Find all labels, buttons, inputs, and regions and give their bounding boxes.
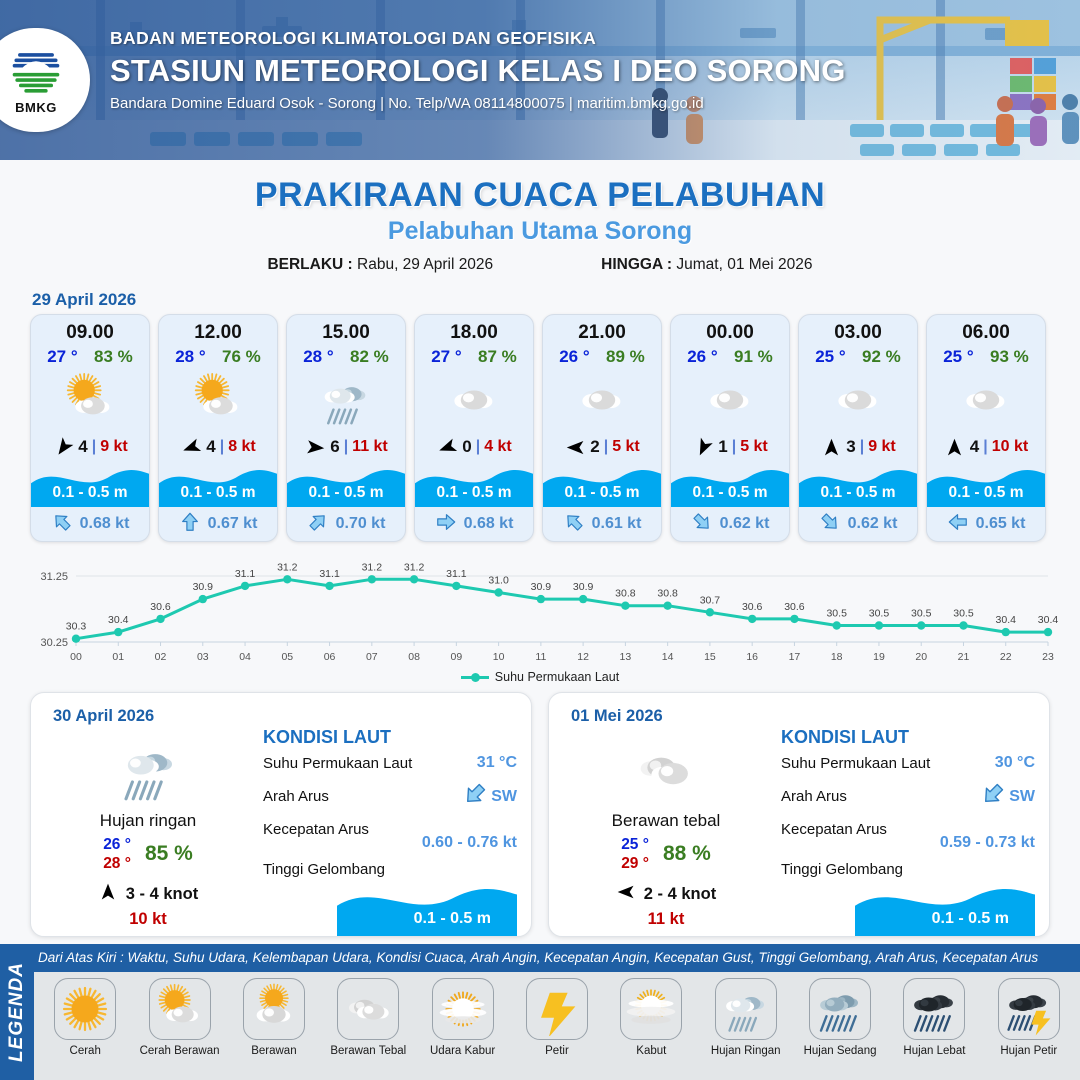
daily-temp-min: 26 ° xyxy=(103,835,131,854)
current-direction-row: Arah Arus SW xyxy=(263,781,517,812)
legend-side-label: LEGENDA xyxy=(0,944,34,1080)
svg-text:20: 20 xyxy=(915,651,927,663)
current-direction-value: SW xyxy=(491,788,517,806)
weather-berawan-tebal-icon xyxy=(561,733,771,807)
current-direction-arrow-icon xyxy=(179,511,201,538)
svg-text:05: 05 xyxy=(281,651,293,663)
current-speed: 0.65 kt xyxy=(976,515,1026,533)
card-temp-hum-row: 28 ° 76 % xyxy=(159,344,277,367)
current-direction-value-group: SW xyxy=(462,781,517,812)
weather-hujan-ringan-icon xyxy=(715,978,777,1040)
wind-separator: | xyxy=(220,438,224,456)
current-direction-arrow-icon xyxy=(51,511,73,538)
hourly-card[interactable]: 06.00 25 ° 93 % 4 | 10 kt 0.1 - 0.5 m 0.… xyxy=(926,314,1046,542)
legend-item: Berawan xyxy=(227,978,321,1057)
svg-text:08: 08 xyxy=(408,651,420,663)
wave-height-label: Tinggi Gelombang xyxy=(781,861,903,878)
wind-separator: | xyxy=(344,438,348,456)
legend-side-text: LEGENDA xyxy=(6,962,28,1062)
legend-item-label: Berawan xyxy=(227,1045,321,1057)
wind-direction-arrow-icon xyxy=(616,882,636,907)
svg-text:30.4: 30.4 xyxy=(996,614,1017,626)
wind-separator: | xyxy=(604,438,608,456)
card-wave-band: 0.1 - 0.5 m xyxy=(671,463,789,507)
hourly-card[interactable]: 12.00 28 ° 76 % 4 | 8 kt 0.1 - 0.5 m 0.6… xyxy=(158,314,278,542)
daily-sea-block: KONDISI LAUT Suhu Permukaan Laut 31 °C A… xyxy=(263,727,517,936)
card-wave-band: 0.1 - 0.5 m xyxy=(31,463,149,507)
wind-separator: | xyxy=(92,438,96,456)
wind-direction-arrow-icon xyxy=(564,436,586,458)
card-temperature: 26 ° xyxy=(559,347,589,367)
wind-direction-arrow-icon xyxy=(820,436,842,458)
svg-text:30.5: 30.5 xyxy=(911,608,932,620)
hourly-card[interactable]: 09.00 27 ° 83 % 4 | 9 kt 0.1 - 0.5 m 0.6… xyxy=(30,314,150,542)
station-contact: Bandara Domine Eduard Osok - Sorong | No… xyxy=(110,95,846,112)
svg-text:31.1: 31.1 xyxy=(446,568,467,580)
wind-direction-arrow-icon xyxy=(98,882,118,907)
card-time: 21.00 xyxy=(543,315,661,344)
wind-gust: 5 kt xyxy=(612,438,640,456)
weather-kabut-icon xyxy=(620,978,682,1040)
card-temp-hum-row: 26 ° 89 % xyxy=(543,344,661,367)
legend-item-label: Petir xyxy=(510,1045,604,1057)
wind-gust: 9 kt xyxy=(100,438,128,456)
legend-item-label: Kabut xyxy=(604,1045,698,1057)
svg-text:19: 19 xyxy=(873,651,885,663)
legend-item-label: Berawan Tebal xyxy=(321,1045,415,1057)
legend-item-label: Cerah xyxy=(38,1045,132,1057)
svg-text:31.25: 31.25 xyxy=(40,571,68,583)
hingga-label: HINGGA : xyxy=(601,256,672,273)
sst-row: Suhu Permukaan Laut 30 °C xyxy=(781,754,1035,772)
legend-section: LEGENDA Dari Atas Kiri : Waktu, Suhu Uda… xyxy=(0,944,1080,1080)
weather-berawan-icon xyxy=(415,369,533,431)
legend-items-row: Cerah Cerah Berawan Berawan Berawan Teba… xyxy=(34,972,1080,1080)
wind-direction-arrow-icon xyxy=(180,436,202,458)
card-temperature: 26 ° xyxy=(687,347,717,367)
card-wave-band: 0.1 - 0.5 m xyxy=(287,463,405,507)
wave-height: 0.1 - 0.5 m xyxy=(415,484,533,502)
card-time: 15.00 xyxy=(287,315,405,344)
legend-item: Cerah xyxy=(38,978,132,1057)
current-speed: 0.68 kt xyxy=(464,515,514,533)
svg-text:30.6: 30.6 xyxy=(150,601,171,613)
svg-text:21: 21 xyxy=(958,651,970,663)
card-current-row: 0.67 kt xyxy=(159,507,277,541)
sea-condition-title: KONDISI LAUT xyxy=(781,727,1035,748)
weather-cerah-berawan-icon xyxy=(31,369,149,431)
daily-temp-range: 26 ° 28 ° xyxy=(103,835,131,874)
card-temp-hum-row: 27 ° 87 % xyxy=(415,344,533,367)
card-temp-hum-row: 27 ° 83 % xyxy=(31,344,149,367)
card-current-row: 0.70 kt xyxy=(287,507,405,541)
page-title: PRAKIRAAN CUACA PELABUHAN xyxy=(0,176,1080,215)
svg-text:30.5: 30.5 xyxy=(953,608,974,620)
current-direction-arrow-icon xyxy=(947,511,969,538)
weather-berawan-icon xyxy=(799,369,917,431)
daily-wave-value: 0.1 - 0.5 m xyxy=(932,910,1009,928)
card-wind-row: 6 | 11 kt xyxy=(287,431,405,463)
daily-condition: Berawan tebal xyxy=(561,811,771,831)
sst-chart: 31.2530.25000102030405060708091011121314… xyxy=(18,556,1062,668)
svg-text:30.9: 30.9 xyxy=(531,581,552,593)
card-wave-band: 0.1 - 0.5 m xyxy=(799,463,917,507)
daily-humidity: 85 % xyxy=(145,842,193,866)
daily-date: 01 Mei 2026 xyxy=(571,707,663,726)
current-speed-label: Kecepatan Arus xyxy=(263,821,369,838)
svg-text:31.1: 31.1 xyxy=(319,568,340,580)
card-time: 00.00 xyxy=(671,315,789,344)
svg-text:09: 09 xyxy=(451,651,463,663)
card-wave-band: 0.1 - 0.5 m xyxy=(159,463,277,507)
current-direction-label: Arah Arus xyxy=(263,788,329,805)
svg-text:01: 01 xyxy=(112,651,124,663)
daily-gust: 11 kt xyxy=(561,910,771,929)
wind-speed: 4 xyxy=(206,437,215,457)
current-direction-label: Arah Arus xyxy=(781,788,847,805)
current-direction-value-group: SW xyxy=(980,781,1035,812)
wind-direction-arrow-icon xyxy=(304,436,326,458)
svg-text:30.6: 30.6 xyxy=(784,601,805,613)
current-speed-label: Kecepatan Arus xyxy=(781,821,887,838)
weather-petir-icon xyxy=(526,978,588,1040)
card-temp-hum-row: 25 ° 92 % xyxy=(799,344,917,367)
card-wind-row: 3 | 9 kt xyxy=(799,431,917,463)
wind-separator: | xyxy=(983,438,987,456)
page-subtitle: Pelabuhan Utama Sorong xyxy=(0,217,1080,246)
sea-condition-title: KONDISI LAUT xyxy=(263,727,517,748)
legend-item-label: Cerah Berawan xyxy=(132,1045,226,1057)
sst-label: Suhu Permukaan Laut xyxy=(781,755,930,772)
card-current-row: 0.68 kt xyxy=(31,507,149,541)
legend-item: Cerah Berawan xyxy=(132,978,226,1057)
svg-text:31.2: 31.2 xyxy=(362,561,383,573)
svg-text:15: 15 xyxy=(704,651,716,663)
bmkg-logo-text: BMKG xyxy=(15,100,57,115)
card-humidity: 91 % xyxy=(734,347,773,367)
card-time: 18.00 xyxy=(415,315,533,344)
daily-sea-block: KONDISI LAUT Suhu Permukaan Laut 30 °C A… xyxy=(781,727,1035,936)
weather-berawan-tebal-icon xyxy=(337,978,399,1040)
current-direction-row: Arah Arus SW xyxy=(781,781,1035,812)
daily-wind-speed: 3 - 4 knot xyxy=(126,885,198,904)
wind-separator: | xyxy=(732,438,736,456)
hingga-group: HINGGA : Jumat, 01 Mei 2026 xyxy=(601,256,812,274)
wind-gust: 11 kt xyxy=(352,438,388,456)
svg-text:30.8: 30.8 xyxy=(615,588,636,600)
hourly-date-label: 29 April 2026 xyxy=(32,290,1080,310)
card-humidity: 82 % xyxy=(350,347,389,367)
card-humidity: 93 % xyxy=(990,347,1029,367)
legend-item: Udara Kabur xyxy=(415,978,509,1057)
current-direction-arrow-icon xyxy=(980,781,1006,812)
legend-item: Hujan Sedang xyxy=(793,978,887,1057)
weather-hujan-sedang-icon xyxy=(809,978,871,1040)
svg-text:30.4: 30.4 xyxy=(108,614,129,626)
weather-cerah-berawan-icon xyxy=(149,978,211,1040)
card-humidity: 83 % xyxy=(94,347,133,367)
svg-text:30.8: 30.8 xyxy=(657,588,678,600)
wind-direction-arrow-icon xyxy=(52,436,74,458)
svg-text:31.2: 31.2 xyxy=(277,561,298,573)
chart-legend: Suhu Permukaan Laut xyxy=(0,670,1080,684)
current-direction-arrow-icon xyxy=(462,781,488,812)
card-temp-hum-row: 28 ° 82 % xyxy=(287,344,405,367)
wind-direction-arrow-icon xyxy=(944,436,966,458)
svg-text:30.3: 30.3 xyxy=(66,621,87,633)
svg-text:30.6: 30.6 xyxy=(742,601,763,613)
card-current-row: 0.65 kt xyxy=(927,507,1045,541)
wind-direction-arrow-icon xyxy=(692,436,714,458)
card-temperature: 27 ° xyxy=(431,347,461,367)
card-humidity: 87 % xyxy=(478,347,517,367)
weather-udara-kabur-icon xyxy=(432,978,494,1040)
svg-text:30.5: 30.5 xyxy=(869,608,890,620)
legend-item-label: Hujan Ringan xyxy=(699,1045,793,1057)
wind-gust: 4 kt xyxy=(484,438,512,456)
current-direction-value: SW xyxy=(1009,788,1035,806)
daily-wind-row: 3 - 4 knot xyxy=(43,882,253,907)
current-speed: 0.70 kt xyxy=(336,515,386,533)
current-direction-arrow-icon xyxy=(435,511,457,538)
card-humidity: 92 % xyxy=(862,347,901,367)
daily-temp-max: 28 ° xyxy=(103,854,131,873)
wave-height-label: Tinggi Gelombang xyxy=(263,861,385,878)
daily-forecast-card[interactable]: 30 April 2026 Hujan ringan 26 ° 28 ° 85 … xyxy=(30,692,532,937)
svg-text:30.9: 30.9 xyxy=(573,581,594,593)
daily-left-block: Hujan ringan 26 ° 28 ° 85 % 3 - 4 knot 1… xyxy=(43,733,253,929)
current-direction-arrow-icon xyxy=(307,511,329,538)
card-wind-row: 1 | 5 kt xyxy=(671,431,789,463)
legend-item-label: Udara Kabur xyxy=(415,1045,509,1057)
card-temperature: 27 ° xyxy=(47,347,77,367)
daily-temp-range: 25 ° 29 ° xyxy=(621,835,649,874)
daily-wind-speed: 2 - 4 knot xyxy=(644,885,716,904)
hourly-card[interactable]: 15.00 28 ° 82 % 6 | 11 kt 0.1 - 0.5 m 0.… xyxy=(286,314,406,542)
sst-row: Suhu Permukaan Laut 31 °C xyxy=(263,754,517,772)
current-direction-arrow-icon xyxy=(819,511,841,538)
title-block: PRAKIRAAN CUACA PELABUHAN Pelabuhan Utam… xyxy=(0,176,1080,274)
berlaku-label: BERLAKU : xyxy=(267,256,352,273)
daily-condition: Hujan ringan xyxy=(43,811,253,831)
wind-gust: 8 kt xyxy=(228,438,256,456)
daily-temp-hum-row: 26 ° 28 ° 85 % xyxy=(43,835,253,874)
wind-gust: 9 kt xyxy=(868,438,896,456)
legend-caption: Dari Atas Kiri : Waktu, Suhu Udara, Kele… xyxy=(38,950,1074,965)
hourly-card[interactable]: 00.00 26 ° 91 % 1 | 5 kt 0.1 - 0.5 m 0.6… xyxy=(670,314,790,542)
svg-text:14: 14 xyxy=(662,651,674,663)
svg-text:00: 00 xyxy=(70,651,82,663)
svg-text:30.25: 30.25 xyxy=(40,637,68,649)
weather-hujan-lebat-icon xyxy=(903,978,965,1040)
svg-text:16: 16 xyxy=(746,651,758,663)
svg-text:07: 07 xyxy=(366,651,378,663)
hourly-card[interactable]: 21.00 26 ° 89 % 2 | 5 kt 0.1 - 0.5 m 0.6… xyxy=(542,314,662,542)
current-direction-arrow-icon xyxy=(563,511,585,538)
card-time: 03.00 xyxy=(799,315,917,344)
card-temperature: 25 ° xyxy=(815,347,845,367)
wind-speed: 6 xyxy=(330,437,339,457)
wave-height: 0.1 - 0.5 m xyxy=(159,484,277,502)
card-time: 12.00 xyxy=(159,315,277,344)
card-wave-band: 0.1 - 0.5 m xyxy=(543,463,661,507)
wave-height: 0.1 - 0.5 m xyxy=(287,484,405,502)
daily-forecast-row: 30 April 2026 Hujan ringan 26 ° 28 ° 85 … xyxy=(0,684,1080,937)
wind-direction-arrow-icon xyxy=(436,436,458,458)
legend-item-label: Hujan Sedang xyxy=(793,1045,887,1057)
berlaku-group: BERLAKU : Rabu, 29 April 2026 xyxy=(267,256,493,274)
daily-wind-row: 2 - 4 knot xyxy=(561,882,771,907)
legend-item: Berawan Tebal xyxy=(321,978,415,1057)
svg-text:23: 23 xyxy=(1042,651,1054,663)
svg-text:12: 12 xyxy=(577,651,589,663)
berlaku-value: Rabu, 29 April 2026 xyxy=(357,256,493,273)
weather-hujan-ringan-icon xyxy=(287,369,405,431)
card-temp-hum-row: 25 ° 93 % xyxy=(927,344,1045,367)
current-speed: 0.62 kt xyxy=(848,515,898,533)
wave-graphic: 0.1 - 0.5 m xyxy=(263,880,517,936)
card-wind-row: 4 | 9 kt xyxy=(31,431,149,463)
daily-humidity: 88 % xyxy=(663,842,711,866)
daily-left-block: Berawan tebal 25 ° 29 ° 88 % 2 - 4 knot … xyxy=(561,733,771,929)
card-humidity: 76 % xyxy=(222,347,261,367)
wind-speed: 3 xyxy=(846,437,855,457)
current-speed: 0.61 kt xyxy=(592,515,642,533)
daily-gust: 10 kt xyxy=(43,910,253,929)
agency-name: BADAN METEOROLOGI KLIMATOLOGI DAN GEOFIS… xyxy=(110,28,846,49)
wind-gust: 5 kt xyxy=(740,438,768,456)
card-wave-band: 0.1 - 0.5 m xyxy=(415,463,533,507)
card-time: 06.00 xyxy=(927,315,1045,344)
legend-item: Petir xyxy=(510,978,604,1057)
daily-date: 30 April 2026 xyxy=(53,707,154,726)
daily-temp-max: 29 ° xyxy=(621,854,649,873)
legend-item: Kabut xyxy=(604,978,698,1057)
daily-forecast-card[interactable]: 01 Mei 2026 Berawan tebal 25 ° 29 ° 88 %… xyxy=(548,692,1050,937)
header-text-block: BADAN METEOROLOGI KLIMATOLOGI DAN GEOFIS… xyxy=(110,28,846,112)
card-humidity: 89 % xyxy=(606,347,645,367)
svg-text:31.0: 31.0 xyxy=(488,575,509,587)
wave-height: 0.1 - 0.5 m xyxy=(543,484,661,502)
hourly-forecast-row: 09.00 27 ° 83 % 4 | 9 kt 0.1 - 0.5 m 0.6… xyxy=(0,314,1080,542)
hingga-value: Jumat, 01 Mei 2026 xyxy=(676,256,812,273)
hourly-card[interactable]: 18.00 27 ° 87 % 0 | 4 kt 0.1 - 0.5 m 0.6… xyxy=(414,314,534,542)
svg-text:03: 03 xyxy=(197,651,209,663)
wind-speed: 2 xyxy=(590,437,599,457)
weather-berawan-icon xyxy=(543,369,661,431)
weather-berawan-icon xyxy=(927,369,1045,431)
svg-text:04: 04 xyxy=(239,651,251,663)
sst-value: 31 °C xyxy=(477,754,517,772)
card-temperature: 28 ° xyxy=(303,347,333,367)
card-wind-row: 0 | 4 kt xyxy=(415,431,533,463)
chart-legend-swatch xyxy=(461,676,489,679)
svg-text:17: 17 xyxy=(789,651,801,663)
svg-text:06: 06 xyxy=(324,651,336,663)
weather-hujan-petir-icon xyxy=(998,978,1060,1040)
bmkg-logo-icon xyxy=(9,46,63,98)
wave-height-row: Tinggi Gelombang xyxy=(263,861,517,878)
svg-text:30.7: 30.7 xyxy=(700,594,721,606)
wave-height: 0.1 - 0.5 m xyxy=(671,484,789,502)
sst-label: Suhu Permukaan Laut xyxy=(263,755,412,772)
sst-chart-svg: 31.2530.25000102030405060708091011121314… xyxy=(18,556,1062,668)
svg-text:18: 18 xyxy=(831,651,843,663)
card-temp-hum-row: 26 ° 91 % xyxy=(671,344,789,367)
card-current-row: 0.62 kt xyxy=(671,507,789,541)
wind-speed: 0 xyxy=(462,437,471,457)
chart-legend-label: Suhu Permukaan Laut xyxy=(495,670,619,684)
card-wind-row: 4 | 8 kt xyxy=(159,431,277,463)
current-speed: 0.68 kt xyxy=(80,515,130,533)
svg-text:31.2: 31.2 xyxy=(404,561,425,573)
svg-text:30.4: 30.4 xyxy=(1038,614,1059,626)
card-temperature: 28 ° xyxy=(175,347,205,367)
wave-height: 0.1 - 0.5 m xyxy=(799,484,917,502)
card-temperature: 25 ° xyxy=(943,347,973,367)
daily-temp-hum-row: 25 ° 29 ° 88 % xyxy=(561,835,771,874)
svg-text:13: 13 xyxy=(620,651,632,663)
station-name: STASIUN METEOROLOGI KELAS I DEO SORONG xyxy=(110,53,846,89)
hourly-card[interactable]: 03.00 25 ° 92 % 3 | 9 kt 0.1 - 0.5 m 0.6… xyxy=(798,314,918,542)
weather-berawan-icon xyxy=(671,369,789,431)
legend-item: Hujan Lebat xyxy=(887,978,981,1057)
wind-speed: 1 xyxy=(718,437,727,457)
weather-cerah-icon xyxy=(54,978,116,1040)
weather-berawan-sun-icon xyxy=(243,978,305,1040)
current-speed: 0.67 kt xyxy=(208,515,258,533)
sst-value: 30 °C xyxy=(995,754,1035,772)
wave-height-row: Tinggi Gelombang xyxy=(781,861,1035,878)
card-current-row: 0.68 kt xyxy=(415,507,533,541)
wave-height: 0.1 - 0.5 m xyxy=(31,484,149,502)
svg-text:10: 10 xyxy=(493,651,505,663)
card-current-row: 0.62 kt xyxy=(799,507,917,541)
page-header: BMKG BADAN METEOROLOGI KLIMATOLOGI DAN G… xyxy=(0,0,1080,160)
wave-height: 0.1 - 0.5 m xyxy=(927,484,1045,502)
svg-text:11: 11 xyxy=(535,651,546,663)
wind-separator: | xyxy=(476,438,480,456)
card-wind-row: 2 | 5 kt xyxy=(543,431,661,463)
legend-item-label: Hujan Petir xyxy=(982,1045,1076,1057)
wind-separator: | xyxy=(860,438,864,456)
wind-speed: 4 xyxy=(78,437,87,457)
current-speed: 0.62 kt xyxy=(720,515,770,533)
svg-text:02: 02 xyxy=(155,651,167,663)
card-time: 09.00 xyxy=(31,315,149,344)
daily-temp-min: 25 ° xyxy=(621,835,649,854)
wind-gust: 10 kt xyxy=(992,438,1028,456)
wind-speed: 4 xyxy=(970,437,979,457)
svg-text:30.9: 30.9 xyxy=(193,581,214,593)
daily-wave-value: 0.1 - 0.5 m xyxy=(414,910,491,928)
card-current-row: 0.61 kt xyxy=(543,507,661,541)
svg-text:30.5: 30.5 xyxy=(826,608,847,620)
legend-item-label: Hujan Lebat xyxy=(887,1045,981,1057)
svg-text:31.1: 31.1 xyxy=(235,568,256,580)
validity-row: BERLAKU : Rabu, 29 April 2026 HINGGA : J… xyxy=(0,256,1080,274)
weather-cerah-berawan-icon xyxy=(159,369,277,431)
svg-text:22: 22 xyxy=(1000,651,1012,663)
current-direction-arrow-icon xyxy=(691,511,713,538)
legend-item: Hujan Petir xyxy=(982,978,1076,1057)
legend-item: Hujan Ringan xyxy=(699,978,793,1057)
card-wave-band: 0.1 - 0.5 m xyxy=(927,463,1045,507)
weather-hujan-ringan-icon xyxy=(43,733,253,807)
wave-graphic: 0.1 - 0.5 m xyxy=(781,880,1035,936)
card-wind-row: 4 | 10 kt xyxy=(927,431,1045,463)
